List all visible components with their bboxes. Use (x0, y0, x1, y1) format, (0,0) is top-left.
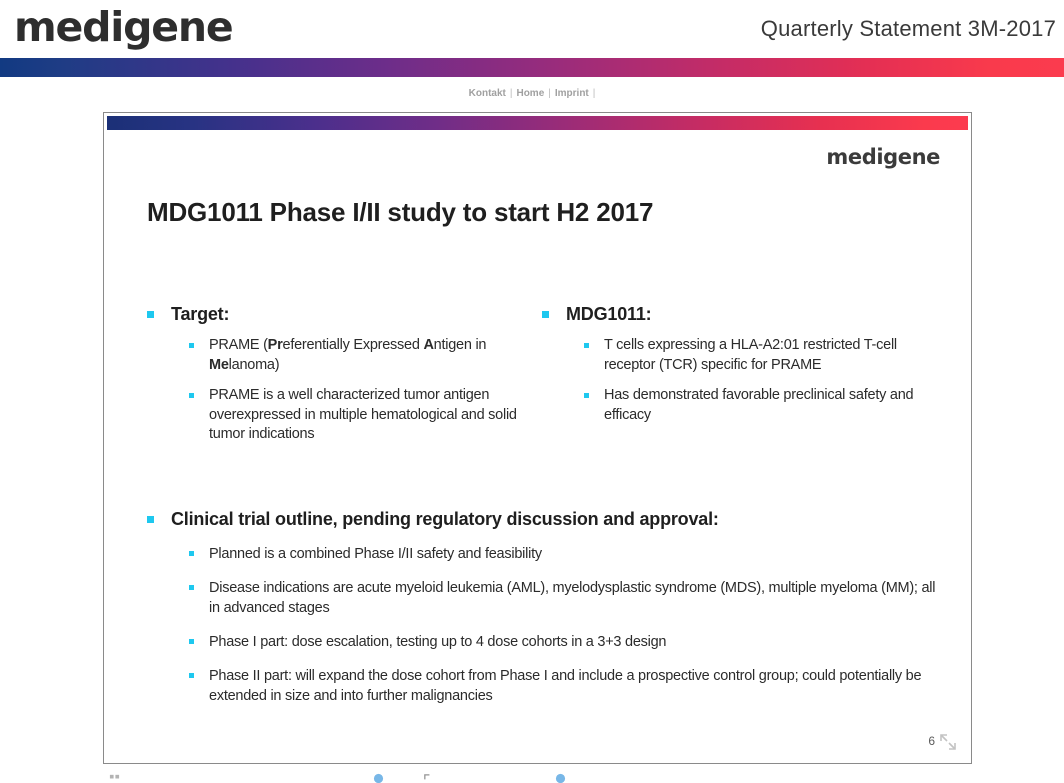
list-item-label: Disease indications are acute myeloid le… (209, 578, 937, 618)
list-item: PRAME (Preferentially Expressed Antigen … (189, 336, 542, 375)
slide-page-number: 6 (928, 734, 935, 748)
clinical-trial-outline-section: Clinical trial outline, pending regulato… (147, 508, 937, 720)
list-item: Phase II part: will expand the dose coho… (189, 666, 937, 706)
column-mdg1011: MDG1011: T cells expressing a HLA-A2:01 … (542, 303, 937, 456)
menu-icon[interactable] (109, 773, 120, 783)
bullet-list: T cells expressing a HLA-A2:01 restricte… (542, 336, 937, 425)
slide-viewer[interactable]: medigene MDG1011 Phase I/II study to sta… (103, 112, 972, 764)
list-item: Phase I part: dose escalation, testing u… (189, 632, 937, 652)
bullet-square-icon (584, 343, 589, 348)
list-item: Disease indications are acute myeloid le… (189, 578, 937, 618)
nav-separator: | (510, 88, 513, 99)
list-item-label: T cells expressing a HLA-A2:01 restricte… (604, 336, 937, 375)
page-title: Quarterly Statement 3M-2017 (761, 16, 1056, 42)
nav-links: Kontakt | Home | Imprint | (0, 77, 1064, 103)
brand-gradient-bar (0, 58, 1064, 77)
bullet-square-icon (189, 343, 194, 348)
bullet-square-icon (542, 311, 549, 318)
list-item-label: Phase I part: dose escalation, testing u… (209, 632, 666, 652)
list-item: PRAME is a well characterized tumor anti… (189, 386, 542, 445)
list-item-label: PRAME (Preferentially Expressed Antigen … (209, 336, 542, 375)
next-icon[interactable] (555, 773, 566, 783)
nav-link-home[interactable]: Home (516, 88, 544, 99)
slide-medigene-logo: medigene (826, 145, 940, 169)
bullet-square-icon (189, 673, 194, 678)
bullet-square-icon (189, 639, 194, 644)
column-heading: Target: (171, 303, 229, 325)
bullet-square-icon (189, 393, 194, 398)
nav-link-kontakt[interactable]: Kontakt (469, 88, 506, 99)
page-header: medigene Quarterly Statement 3M-2017 (0, 0, 1064, 58)
slide-gradient-bar (107, 116, 968, 130)
list-item-label: Has demonstrated favorable preclinical s… (604, 386, 937, 425)
medigene-logo: medigene (14, 2, 232, 52)
section-heading: Clinical trial outline, pending regulato… (171, 508, 719, 530)
bullet-square-icon (189, 551, 194, 556)
slide-canvas: medigene MDG1011 Phase I/II study to sta… (107, 116, 968, 760)
viewer-bottom-toolbar[interactable] (103, 769, 972, 783)
bullet-square-icon (189, 585, 194, 590)
list-item: Has demonstrated favorable preclinical s… (584, 386, 937, 425)
column-heading-row: MDG1011: (542, 303, 937, 325)
slide-title: MDG1011 Phase I/II study to start H2 201… (147, 197, 653, 228)
column-heading-row: Target: (147, 303, 542, 325)
bullet-list: Planned is a combined Phase I/II safety … (147, 544, 937, 706)
column-target: Target: PRAME (Preferentially Expressed … (147, 303, 542, 456)
list-item: Planned is a combined Phase I/II safety … (189, 544, 937, 564)
list-item-label: Phase II part: will expand the dose coho… (209, 666, 937, 706)
section-heading-row: Clinical trial outline, pending regulato… (147, 508, 937, 530)
nav-separator: | (593, 88, 596, 99)
list-item-label: Planned is a combined Phase I/II safety … (209, 544, 542, 564)
nav-link-imprint[interactable]: Imprint (555, 88, 589, 99)
bullet-list: PRAME (Preferentially Expressed Antigen … (147, 336, 542, 445)
list-item-label: PRAME is a well characterized tumor anti… (209, 386, 542, 445)
expand-icon[interactable] (423, 773, 434, 783)
bullet-square-icon (147, 311, 154, 318)
previous-icon[interactable] (373, 773, 384, 783)
column-heading: MDG1011: (566, 303, 651, 325)
diagonal-resize-icon[interactable] (938, 732, 958, 752)
bullet-square-icon (147, 516, 154, 523)
nav-separator: | (548, 88, 551, 99)
list-item: T cells expressing a HLA-A2:01 restricte… (584, 336, 937, 375)
bullet-square-icon (584, 393, 589, 398)
slide-columns: Target: PRAME (Preferentially Expressed … (147, 303, 937, 456)
